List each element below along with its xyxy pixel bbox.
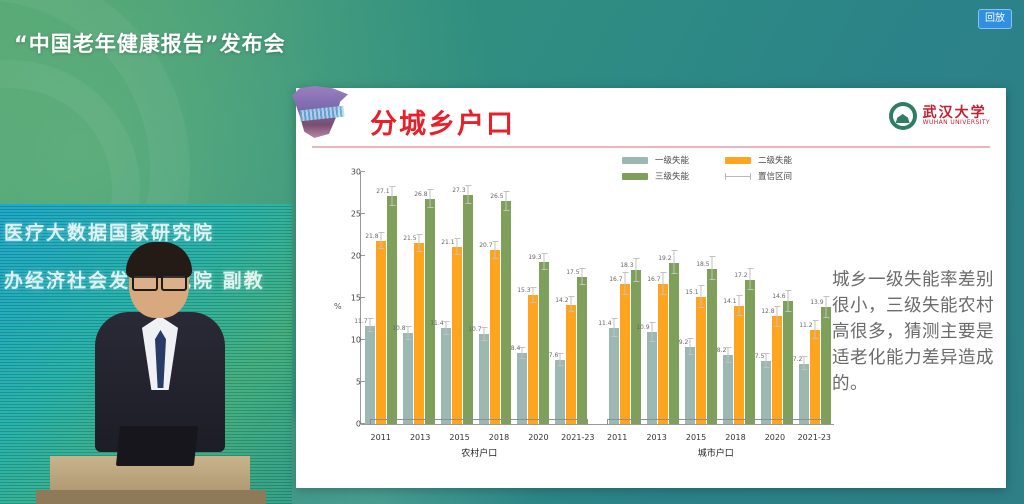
confidence-interval-bar [777, 306, 778, 327]
bar-value-label: 19.3 [528, 254, 541, 261]
bar-三级失能-2015[interactable]: 27.3 [463, 172, 473, 424]
bar-value-label: 17.2 [734, 272, 747, 279]
bar-value-label: 10.8 [392, 325, 405, 332]
x-axis-tick-2011: 2011 [598, 433, 637, 442]
bar-value-label: 11.4 [430, 320, 443, 327]
led-backdrop-line-1: 医疗大数据国家研究院 [4, 218, 214, 245]
bar-rect [479, 334, 489, 424]
bar-group-城市户口-2018: 8.214.117.2 [720, 172, 758, 424]
bar-group-农村户口-2018: 10.720.726.5 [476, 172, 514, 424]
bar-三级失能-2020[interactable]: 14.6 [783, 172, 793, 424]
confidence-interval-bar [728, 347, 729, 363]
grouped-bar-chart: % 051015202530 11.721.827.110.821.526.81… [334, 172, 834, 462]
bar-rect [566, 305, 576, 424]
bar-value-label: 26.8 [414, 191, 427, 198]
university-seal-inner-icon [893, 106, 913, 126]
y-axis-tick-25: 25 [339, 210, 361, 219]
bar-value-label: 7.6 [549, 352, 559, 359]
bar-rect [620, 284, 630, 424]
bar-value-label: 7.2 [793, 356, 803, 363]
bar-groups: 11.721.827.110.821.526.811.421.127.310.7… [362, 172, 834, 424]
x-axis-tick-2013: 2013 [400, 433, 439, 442]
broadcast-stage: “中国老年健康报告”发布会 回放 医疗大数据国家研究院 办经济社会发展研究院 副… [0, 0, 1024, 504]
confidence-interval-bar [506, 191, 507, 210]
bar-三级失能-2013[interactable]: 26.8 [425, 172, 435, 424]
legend-label-level1: 一级失能 [655, 154, 689, 166]
confidence-interval-bar [826, 296, 827, 319]
university-name-block: 武汉大学 WUHAN UNIVERSITY [923, 106, 990, 127]
bar-rect [631, 270, 641, 424]
confidence-interval-bar [392, 186, 393, 205]
x-axis-group-城市户口: 201120132015201820202021-23城市户口 [598, 433, 835, 442]
header-divider [312, 146, 990, 148]
bar-rect [707, 269, 717, 424]
bar-一级失能-2015[interactable]: 11.4 [441, 172, 451, 424]
bar-三级失能-2020[interactable]: 19.3 [539, 172, 549, 424]
x-axis-tick-labels: 201120132015201820202021-23农村户口201120132… [361, 433, 834, 442]
bar-group-城市户口-2020: 7.512.814.6 [758, 172, 796, 424]
x-axis-group-brace [370, 419, 588, 425]
bar-group-城市户口-2021-23: 7.211.213.9 [796, 172, 834, 424]
wuhan-university-logo: 武汉大学 WUHAN UNIVERSITY [889, 102, 990, 130]
bar-rect [501, 201, 511, 424]
bar-二级失能-2011[interactable]: 21.8 [376, 172, 386, 424]
confidence-interval-bar [408, 326, 409, 340]
bar-rect [647, 332, 657, 424]
bar-value-label: 18.5 [696, 261, 709, 268]
bar-rect [745, 280, 755, 424]
confidence-interval-bar [652, 322, 653, 341]
bar-value-label: 12.8 [761, 308, 774, 315]
slide-body: 一级失能 二级失能 三级失能 置信区间 % 0510152025 [296, 150, 1006, 488]
confidence-interval-bar [663, 272, 664, 295]
bar-value-label: 16.7 [647, 276, 660, 283]
bar-group-农村户口-2011: 11.721.827.1 [362, 172, 400, 424]
bar-三级失能-2018[interactable]: 17.2 [745, 172, 755, 424]
presentation-slide: 分城乡户口 武汉大学 WUHAN UNIVERSITY 一级失能 [296, 88, 1006, 488]
bar-group-农村户口-2021-23: 7.614.217.5 [552, 172, 590, 424]
y-axis-label: % [334, 302, 342, 311]
bar-group-城市户口-2011: 11.416.718.3 [606, 172, 644, 424]
speaker-glasses [132, 272, 187, 285]
plot-area: 051015202530 11.721.827.110.821.526.811.… [360, 172, 834, 424]
bar-二级失能-2011[interactable]: 16.7 [620, 172, 630, 424]
bar-value-label: 11.4 [598, 320, 611, 327]
x-axis-group-农村户口: 201120132015201820202021-23农村户口 [361, 433, 598, 442]
bar-二级失能-2015[interactable]: 21.1 [452, 172, 462, 424]
bar-rect [517, 353, 527, 424]
bar-rect [685, 347, 695, 424]
bar-三级失能-2015[interactable]: 18.5 [707, 172, 717, 424]
bar-三级失能-2018[interactable]: 26.5 [501, 172, 511, 424]
bar-rect [658, 284, 668, 424]
bar-三级失能-2021-23[interactable]: 13.9 [821, 172, 831, 424]
bar-value-label: 8.2 [717, 347, 727, 354]
bar-rect [761, 361, 771, 424]
bar-group-农村户口-2020: 8.415.319.3 [514, 172, 552, 424]
bar-rect [783, 301, 793, 424]
university-name-cn: 武汉大学 [923, 106, 990, 121]
bar-value-label: 15.1 [685, 289, 698, 296]
legend-item-level1: 一级失能 [622, 154, 689, 166]
confidence-interval-bar [674, 250, 675, 274]
bar-rect [403, 333, 413, 424]
bar-二级失能-2020[interactable]: 15.3 [528, 172, 538, 424]
bar-rect [810, 330, 820, 424]
y-axis-tick-5: 5 [339, 378, 361, 387]
bar-三级失能-2021-23[interactable]: 17.5 [577, 172, 587, 424]
confidence-interval-bar [533, 287, 534, 303]
bar-二级失能-2018[interactable]: 20.7 [490, 172, 500, 424]
y-axis-tick-10: 10 [339, 336, 361, 345]
confidence-interval-bar [766, 353, 767, 367]
bar-rect [555, 360, 565, 424]
legend-swatch-level2 [725, 157, 751, 164]
bar-二级失能-2015[interactable]: 15.1 [696, 172, 706, 424]
bar-一级失能-2018[interactable]: 10.7 [479, 172, 489, 424]
confidence-interval-bar [690, 338, 691, 356]
bar-value-label: 13.9 [810, 299, 823, 306]
bar-二级失能-2013[interactable]: 21.5 [414, 172, 424, 424]
bar-一级失能-2013[interactable]: 10.9 [647, 172, 657, 424]
bar-一级失能-2011[interactable]: 11.4 [609, 172, 619, 424]
bar-value-label: 11.7 [354, 318, 367, 325]
bar-value-label: 21.1 [441, 239, 454, 246]
bar-rect [799, 364, 809, 424]
confidence-interval-bar [522, 347, 523, 360]
bar-rect [723, 355, 733, 424]
university-name-en: WUHAN UNIVERSITY [923, 120, 990, 126]
confidence-interval-bar [815, 320, 816, 339]
slide-title: 分城乡户口 [370, 102, 515, 141]
x-axis-tick-2011: 2011 [361, 433, 400, 442]
y-axis-tick-15: 15 [339, 294, 361, 303]
confidence-interval-bar [712, 256, 713, 280]
confidence-interval-bar [468, 185, 469, 204]
bar-value-label: 26.5 [490, 193, 503, 200]
bar-value-label: 9.2 [679, 339, 689, 346]
replay-badge[interactable]: 回放 [978, 9, 1012, 29]
bar-value-label: 14.1 [723, 298, 736, 305]
bar-group-城市户口-2015: 9.215.118.5 [682, 172, 720, 424]
bar-rect [528, 295, 538, 424]
confidence-interval-bar [495, 241, 496, 259]
bar-rect [772, 316, 782, 424]
slide-header: 分城乡户口 武汉大学 WUHAN UNIVERSITY [296, 88, 1006, 150]
confidence-interval-bar [484, 327, 485, 341]
confidence-interval-bar [636, 258, 637, 282]
confidence-interval-bar [560, 353, 561, 366]
bar-value-label: 27.3 [452, 187, 465, 194]
legend-label-level2: 二级失能 [758, 154, 792, 166]
bar-group-农村户口-2015: 11.421.127.3 [438, 172, 476, 424]
confidence-interval-bar [430, 189, 431, 208]
x-axis-group-label: 城市户口 [598, 446, 835, 459]
bar-rect [669, 263, 679, 424]
bar-一级失能-2011[interactable]: 11.7 [365, 172, 375, 424]
confidence-interval-bar [544, 253, 545, 271]
bar-二级失能-2013[interactable]: 16.7 [658, 172, 668, 424]
bar-value-label: 27.1 [376, 188, 389, 195]
bar-三级失能-2013[interactable]: 19.2 [669, 172, 679, 424]
bar-rect [387, 196, 397, 424]
x-axis-tick-2015: 2015 [440, 433, 479, 442]
bar-rect [821, 307, 831, 424]
confidence-interval-bar [457, 238, 458, 256]
x-axis-group-label: 农村户口 [361, 446, 598, 459]
legend-item-level2: 二级失能 [725, 154, 792, 166]
bar-一级失能-2021-23[interactable]: 7.2 [799, 172, 809, 424]
laptop [116, 426, 198, 466]
bar-一级失能-2015[interactable]: 9.2 [685, 172, 695, 424]
x-axis-tick-2020: 2020 [755, 433, 794, 442]
bar-一级失能-2013[interactable]: 10.8 [403, 172, 413, 424]
legend-swatch-level1 [622, 157, 648, 164]
bar-一级失能-2020[interactable]: 7.5 [761, 172, 771, 424]
confidence-interval-bar [788, 290, 789, 313]
bar-rect [734, 306, 744, 424]
bar-rect [463, 195, 473, 424]
bar-rect [609, 328, 619, 424]
bar-rect [376, 241, 386, 424]
y-axis-tick-30: 30 [339, 168, 361, 177]
confidence-interval-bar [804, 356, 805, 370]
bar-value-label: 14.6 [772, 293, 785, 300]
event-banner-title: “中国老年健康报告”发布会 [14, 28, 286, 58]
y-axis-tick-0: 0 [339, 420, 361, 429]
bar-rect [452, 247, 462, 424]
bar-rect [441, 328, 451, 424]
bar-value-label: 20.7 [479, 242, 492, 249]
bar-value-label: 16.7 [609, 276, 622, 283]
x-axis-tick-2013: 2013 [637, 433, 676, 442]
bar-三级失能-2011[interactable]: 27.1 [387, 172, 397, 424]
confidence-interval-bar [582, 268, 583, 286]
x-axis-group-brace [607, 419, 825, 425]
confidence-interval-bar [701, 285, 702, 308]
bar-value-label: 19.2 [658, 255, 671, 262]
x-axis-tick-2018: 2018 [479, 433, 518, 442]
confidence-interval-bar [370, 318, 371, 332]
x-axis-tick-2020: 2020 [519, 433, 558, 442]
bar-value-label: 21.8 [365, 233, 378, 240]
confidence-interval-bar [614, 318, 615, 337]
commentary-text: 城乡一级失能率差别很小，三级失能农村高很多，猜测主要是适老化能力差异造成的。 [832, 268, 994, 397]
podium-base [36, 490, 266, 504]
bar-group-城市户口-2013: 10.916.719.2 [644, 172, 682, 424]
speaker-video-panel: 医疗大数据国家研究院 办经济社会发展研究院 副教 [0, 204, 292, 504]
bar-rect [490, 250, 500, 424]
bar-rect [539, 262, 549, 424]
bar-rect [365, 326, 375, 424]
bar-rect [425, 199, 435, 424]
bar-value-label: 10.7 [468, 326, 481, 333]
x-axis-tick-2018: 2018 [716, 433, 755, 442]
bar-三级失能-2011[interactable]: 18.3 [631, 172, 641, 424]
bar-rect [577, 277, 587, 424]
bar-二级失能-2021-23[interactable]: 14.2 [566, 172, 576, 424]
bar-rect [414, 243, 424, 424]
bar-二级失能-2021-23[interactable]: 11.2 [810, 172, 820, 424]
y-axis-tick-20: 20 [339, 252, 361, 261]
bar-value-label: 8.4 [511, 345, 521, 352]
bar-value-label: 11.2 [799, 322, 812, 329]
bar-value-label: 21.5 [403, 235, 416, 242]
bar-value-label: 14.2 [555, 297, 568, 304]
confidence-interval-bar [739, 295, 740, 316]
bar-rect [696, 297, 706, 424]
confidence-interval-bar [571, 296, 572, 312]
bar-group-农村户口-2013: 10.821.526.8 [400, 172, 438, 424]
x-axis-tick-2021-23: 2021-23 [558, 433, 597, 442]
bar-二级失能-2018[interactable]: 14.1 [734, 172, 744, 424]
bar-value-label: 18.3 [620, 262, 633, 269]
confidence-interval-bar [446, 321, 447, 335]
bar-value-label: 17.5 [566, 269, 579, 276]
bar-value-label: 7.5 [755, 353, 765, 360]
university-seal-icon [889, 102, 917, 130]
x-axis-tick-2021-23: 2021-23 [795, 433, 834, 442]
bar-value-label: 15.3 [517, 287, 530, 294]
confidence-interval-bar [419, 234, 420, 252]
confidence-interval-bar [750, 268, 751, 291]
x-axis-tick-2015: 2015 [676, 433, 715, 442]
bar-value-label: 10.9 [636, 324, 649, 331]
bar-一级失能-2020[interactable]: 8.4 [517, 172, 527, 424]
confidence-interval-bar [625, 272, 626, 295]
confidence-interval-bar [381, 232, 382, 250]
